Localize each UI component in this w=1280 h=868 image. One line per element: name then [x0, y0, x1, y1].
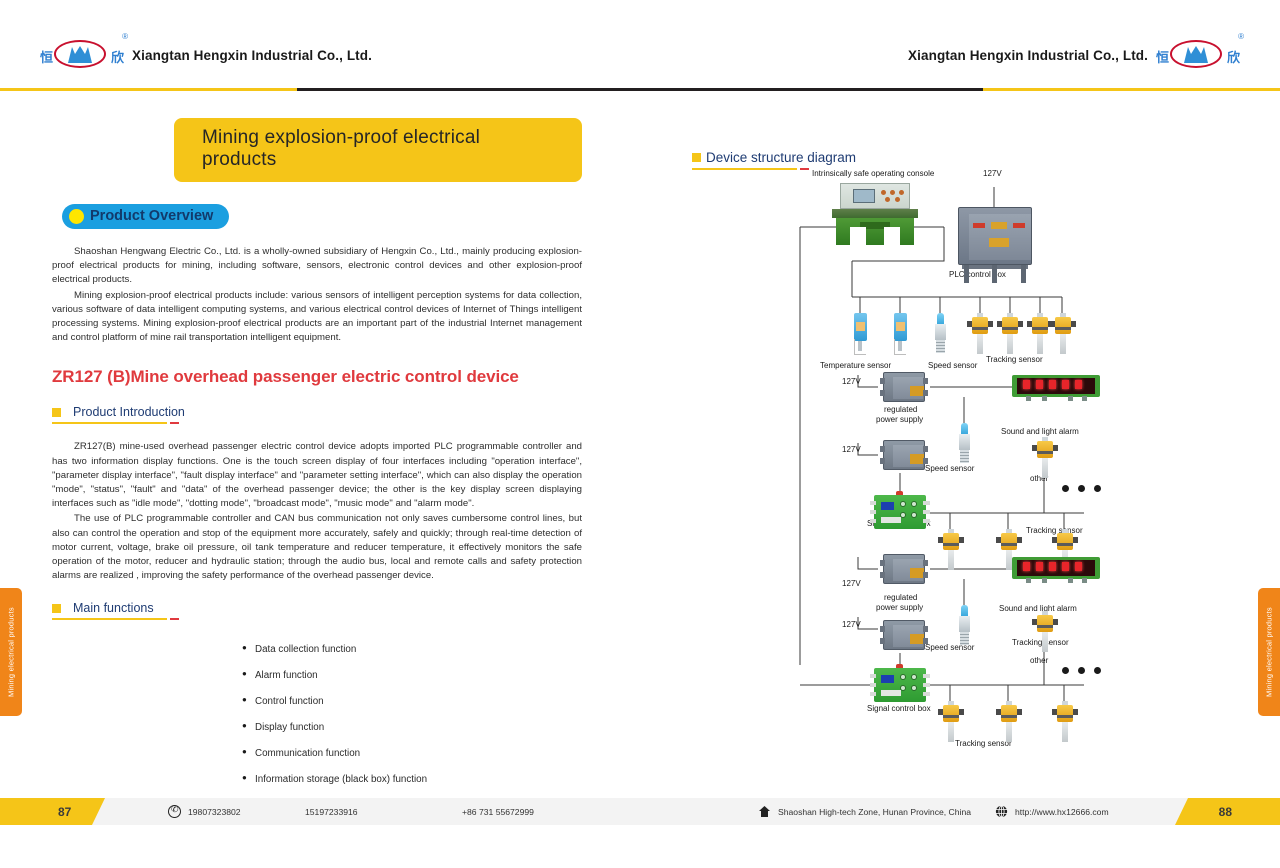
footer-phone-3-text: +86 731 55672999	[462, 807, 534, 817]
tracking-sensor-image	[1032, 611, 1058, 653]
tracking-sensor-image	[1050, 313, 1076, 355]
list-item: Information storage (black box) function	[242, 774, 582, 785]
label-signal-control-box-2: Signal control box	[867, 704, 931, 713]
section-header-main-functions: Main functions	[52, 601, 232, 620]
company-logo-left: 恒 欣 ®	[40, 38, 124, 72]
registered-trademark-icon: ®	[1238, 32, 1244, 41]
logo-mark-icon	[66, 45, 94, 63]
device-structure-diagram: Intrinsically safe operating console 127…	[692, 165, 1252, 775]
footer-address-text: Shaoshan High-tech Zone, Hunan Province,…	[778, 807, 971, 817]
temperature-sensor-image	[893, 313, 908, 357]
page-title-banner: Mining explosion-proof electrical produc…	[174, 118, 582, 182]
intrinsically-safe-console-image	[832, 183, 918, 245]
yellow-square-bullet-icon	[52, 604, 61, 613]
label-regulated-power-supply-1-line1: regulated	[884, 405, 917, 414]
side-tab-left-label: Mining electrical products	[0, 588, 22, 716]
page-number-left: 87	[0, 798, 92, 825]
tracking-sensor-image	[997, 313, 1023, 355]
other-dots-icon	[1062, 485, 1101, 492]
footer-phone-1-text: 19807323802	[188, 807, 241, 817]
side-tab-right[interactable]: Mining electrical products	[1258, 588, 1280, 716]
header-rule-yellow-right	[983, 88, 1280, 91]
footer-phone-1: 19807323802	[168, 798, 241, 825]
list-item: Alarm function	[242, 670, 582, 681]
logo-cjk-left-char: 恒	[40, 47, 53, 66]
tracking-sensor-image	[1032, 437, 1058, 479]
tracking-sensor-image	[938, 701, 964, 743]
introduction-paragraphs: ZR127(B) mine-used overhead passenger el…	[52, 440, 582, 583]
product-introduction-label: Product Introduction	[73, 405, 185, 419]
logo-cjk-left-char: 恒	[1156, 47, 1169, 66]
label-sound-light-alarm-1: Sound and light alarm	[1001, 427, 1079, 436]
label-regulated-power-supply-1-line2: power supply	[876, 415, 923, 424]
sound-and-light-alarm-image	[1012, 375, 1100, 401]
speed-sensor-image	[934, 313, 947, 357]
phone-icon	[168, 805, 181, 818]
left-content-column: Mining explosion-proof electrical produc…	[52, 118, 582, 827]
side-tab-left[interactable]: Mining electrical products	[0, 588, 22, 716]
footer-phone-3: +86 731 55672999	[462, 798, 534, 825]
company-name-right: Xiangtan Hengxin Industrial Co., Ltd.	[908, 48, 1148, 63]
tracking-sensor-image	[938, 529, 964, 571]
logo-mark-icon	[1182, 45, 1210, 63]
section-underline	[52, 618, 167, 620]
plc-control-box-image	[954, 207, 1036, 283]
yellow-square-bullet-icon	[52, 408, 61, 417]
globe-icon	[995, 805, 1008, 818]
label-voltage-top: 127V	[983, 169, 1002, 178]
overview-paragraphs: Shaoshan Hengwang Electric Co., Ltd. is …	[52, 245, 582, 345]
yellow-square-bullet-icon	[692, 153, 701, 162]
company-logo-right: 恒 欣 ®	[1156, 38, 1240, 72]
other-dots-icon	[1062, 667, 1101, 674]
header-rule-dark	[297, 88, 983, 91]
product-overview-badge: Product Overview	[62, 204, 229, 229]
badge-dot-icon	[69, 209, 84, 224]
regulated-power-supply-image	[880, 554, 928, 584]
label-other-2: other	[1030, 656, 1048, 665]
header-divider	[0, 86, 1280, 92]
tracking-sensor-image	[996, 701, 1022, 743]
page-header: 恒 欣 ® Xiangtan Hengxin Industrial Co., L…	[0, 0, 1280, 92]
label-voltage-5: 127V	[842, 620, 861, 629]
signal-control-box-image	[872, 668, 928, 702]
tracking-sensor-image	[967, 313, 993, 355]
section-underline	[52, 422, 167, 424]
logo-cjk-right-char: 欣	[111, 47, 124, 66]
label-tracking-sensor-top: Tracking sensor	[986, 355, 1043, 364]
regulated-power-supply-image	[880, 620, 928, 650]
label-voltage-3: 127V	[842, 445, 861, 454]
signal-control-box-image	[872, 495, 928, 529]
regulated-power-supply-image	[880, 372, 928, 402]
company-name-left: Xiangtan Hengxin Industrial Co., Ltd.	[132, 48, 372, 63]
label-speed-sensor-top: Speed sensor	[928, 361, 977, 370]
introduction-paragraph: The use of PLC programmable controller a…	[52, 512, 582, 583]
page-footer: 87 19807323802 15197233916 +86 731 55672…	[0, 798, 1280, 825]
label-voltage-2: 127V	[842, 377, 861, 386]
label-voltage-4: 127V	[842, 579, 861, 588]
list-item: Control function	[242, 696, 582, 707]
header-rule-yellow-left	[0, 88, 297, 91]
product-overview-label: Product Overview	[90, 208, 213, 224]
list-item: Communication function	[242, 748, 582, 759]
footer-website[interactable]: http://www.hx12666.com	[995, 798, 1109, 825]
overview-paragraph: Shaoshan Hengwang Electric Co., Ltd. is …	[52, 245, 582, 288]
product-heading: ZR127 (B)Mine overhead passenger electri…	[52, 367, 582, 387]
temperature-sensor-image	[853, 313, 868, 357]
introduction-paragraph: ZR127(B) mine-used overhead passenger el…	[52, 440, 582, 511]
speed-sensor-image	[958, 423, 971, 467]
page-number-right: 88	[1188, 798, 1280, 825]
logo-cjk-right-char: 欣	[1227, 47, 1240, 66]
sound-and-light-alarm-image	[1012, 557, 1100, 583]
speed-sensor-image	[958, 605, 971, 649]
tracking-sensor-image	[1052, 701, 1078, 743]
header-brand-right: Xiangtan Hengxin Industrial Co., Ltd. 恒 …	[908, 38, 1240, 72]
footer-phone-2: 15197233916	[305, 798, 358, 825]
header-brand-left: 恒 欣 ® Xiangtan Hengxin Industrial Co., L…	[40, 38, 372, 72]
device-structure-diagram-label: Device structure diagram	[706, 150, 856, 165]
regulated-power-supply-image	[880, 440, 928, 470]
label-console: Intrinsically safe operating console	[812, 169, 934, 178]
registered-trademark-icon: ®	[122, 32, 128, 41]
footer-website-text: http://www.hx12666.com	[1015, 807, 1109, 817]
footer-address: Shaoshan High-tech Zone, Hunan Province,…	[758, 798, 971, 825]
label-regulated-power-supply-2-line1: regulated	[884, 593, 917, 602]
footer-phone-2-text: 15197233916	[305, 807, 358, 817]
section-header-product-introduction: Product Introduction	[52, 405, 232, 424]
overview-paragraph: Mining explosion-proof electrical produc…	[52, 289, 582, 346]
home-icon	[758, 805, 771, 818]
side-tab-right-label: Mining electrical products	[1258, 588, 1280, 716]
main-functions-list: Data collection function Alarm function …	[242, 644, 582, 811]
list-item: Display function	[242, 722, 582, 733]
list-item: Data collection function	[242, 644, 582, 655]
label-regulated-power-supply-2-line2: power supply	[876, 603, 923, 612]
label-temperature-sensor: Temperature sensor	[820, 361, 891, 370]
main-functions-label: Main functions	[73, 601, 154, 615]
